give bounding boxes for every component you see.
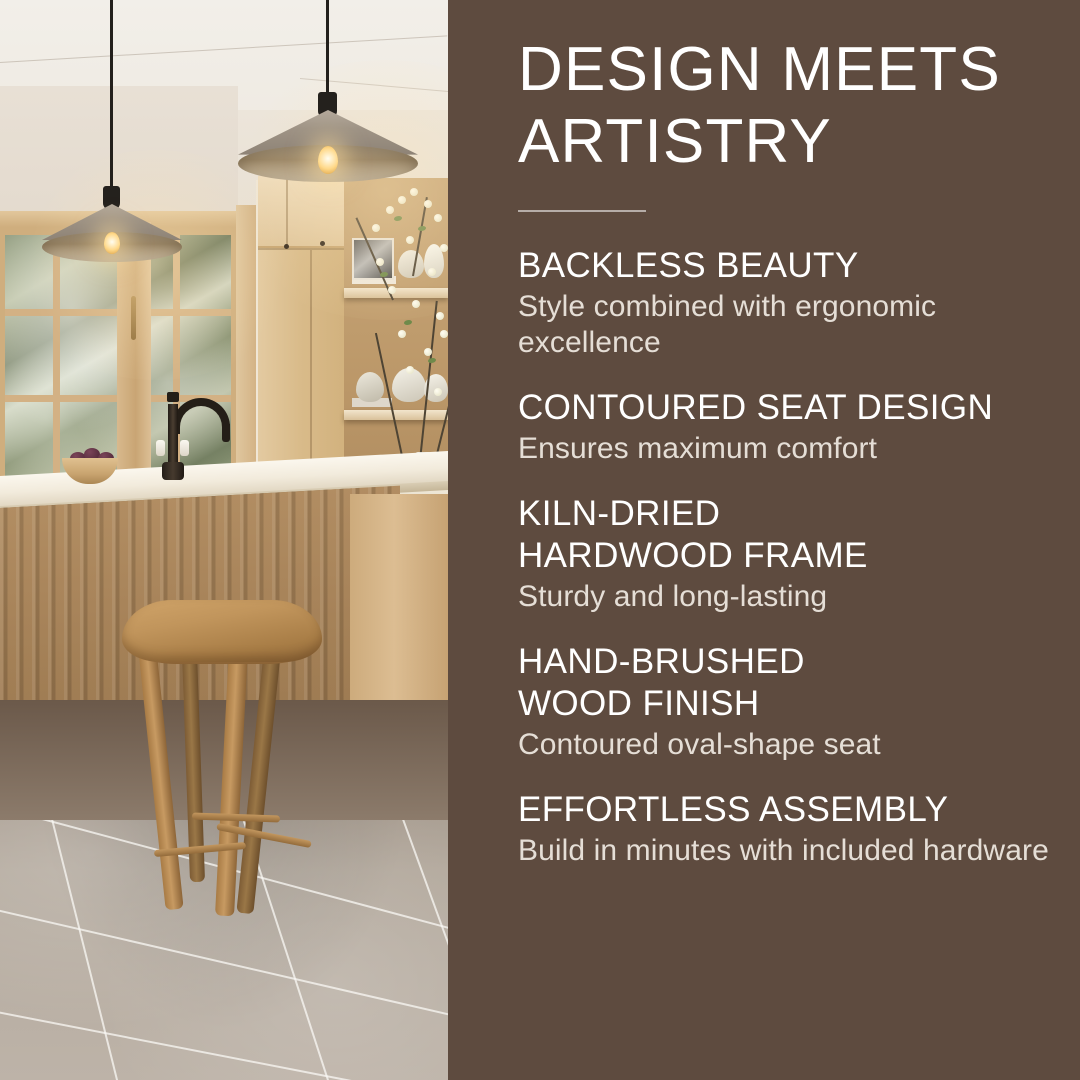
feature-title: CONTOURED SEAT DESIGN [518, 387, 1063, 429]
faucet-spout-tip [222, 424, 230, 442]
blossom-icon [412, 300, 420, 308]
feature-item-effortless-assembly: EFFORTLESS ASSEMBLY Build in minutes wit… [518, 789, 1063, 869]
cabinet-knob-icon[interactable] [284, 244, 289, 249]
window-handle-icon [131, 296, 136, 340]
feature-panel: DESIGN MEETS ARTISTRY BACKLESS BEAUTY St… [448, 0, 1080, 1080]
feature-title: BACKLESS BEAUTY [518, 245, 1063, 287]
blossom-icon [410, 188, 418, 196]
blossom-icon [434, 388, 442, 396]
light-bulb-right [318, 146, 338, 174]
blossom-icon [440, 330, 448, 338]
feature-item-backless-beauty: BACKLESS BEAUTY Style combined with ergo… [518, 245, 1063, 361]
wooden-saddle-stool [108, 600, 338, 900]
faucet-finial [167, 392, 179, 402]
stool-leg-front-left [138, 648, 183, 910]
title-line-1: DESIGN MEETS [518, 34, 1063, 106]
pendant-cord-left [110, 0, 113, 192]
shelf-upper [344, 288, 448, 298]
feature-item-contoured-seat-design: CONTOURED SEAT DESIGN Ensures maximum co… [518, 387, 1063, 467]
blossom-icon [372, 224, 380, 232]
feature-item-kiln-dried-hardwood-frame: KILN-DRIED HARDWOOD FRAME Sturdy and lon… [518, 493, 1063, 615]
shelf-lower [344, 410, 448, 420]
blossom-icon [388, 286, 396, 294]
feature-title-line-2: HARDWOOD FRAME [518, 535, 1063, 577]
blossom-icon [428, 268, 436, 276]
feature-item-hand-brushed-wood-finish: HAND-BRUSHED WOOD FINISH Contoured oval-… [518, 641, 1063, 763]
door-jamb [236, 205, 258, 505]
cabinet-seam [286, 176, 288, 248]
vase [398, 250, 424, 278]
faucet-handle-right[interactable] [180, 440, 189, 456]
title-divider [518, 210, 646, 212]
page-title: DESIGN MEETS ARTISTRY [518, 34, 1063, 178]
kitchen-photo [0, 0, 448, 1080]
feature-list: BACKLESS BEAUTY Style combined with ergo… [518, 245, 1063, 869]
window-mullion-vertical [53, 235, 60, 489]
blossom-icon [406, 236, 414, 244]
window-center-post [117, 222, 151, 502]
faucet-handle-left[interactable] [156, 440, 165, 456]
feature-title: EFFORTLESS ASSEMBLY [518, 789, 1063, 831]
stool-seat [122, 600, 322, 662]
vase [356, 372, 384, 402]
blossom-icon [406, 366, 414, 374]
light-bulb-left [104, 232, 120, 254]
feature-subtitle: Build in minutes with included hardware [518, 833, 1063, 869]
feature-title: KILN-DRIED [518, 493, 1063, 535]
feature-title-line-2: WOOD FINISH [518, 683, 1063, 725]
pendant-cord-right [326, 0, 329, 96]
faucet-column [168, 404, 178, 466]
cabinet-knob-icon[interactable] [320, 241, 325, 246]
promo-graphic: DESIGN MEETS ARTISTRY BACKLESS BEAUTY St… [0, 0, 1080, 1080]
feature-subtitle: Contoured oval-shape seat [518, 727, 1063, 763]
blossom-icon [424, 200, 432, 208]
stool-stretcher-back [192, 812, 280, 822]
feature-subtitle: Style combined with ergonomic excellence [518, 289, 1063, 361]
blossom-icon [398, 330, 406, 338]
title-line-2: ARTISTRY [518, 106, 1063, 178]
feature-title: HAND-BRUSHED [518, 641, 1063, 683]
blossom-icon [440, 244, 448, 252]
blossom-icon [386, 206, 394, 214]
feature-subtitle: Sturdy and long-lasting [518, 579, 1063, 615]
feature-subtitle: Ensures maximum comfort [518, 431, 1063, 467]
blossom-icon [398, 196, 406, 204]
faucet-base [162, 462, 184, 480]
blossom-icon [376, 258, 384, 266]
blossom-icon [424, 348, 432, 356]
blossom-icon [434, 214, 442, 222]
blossom-icon [436, 312, 444, 320]
